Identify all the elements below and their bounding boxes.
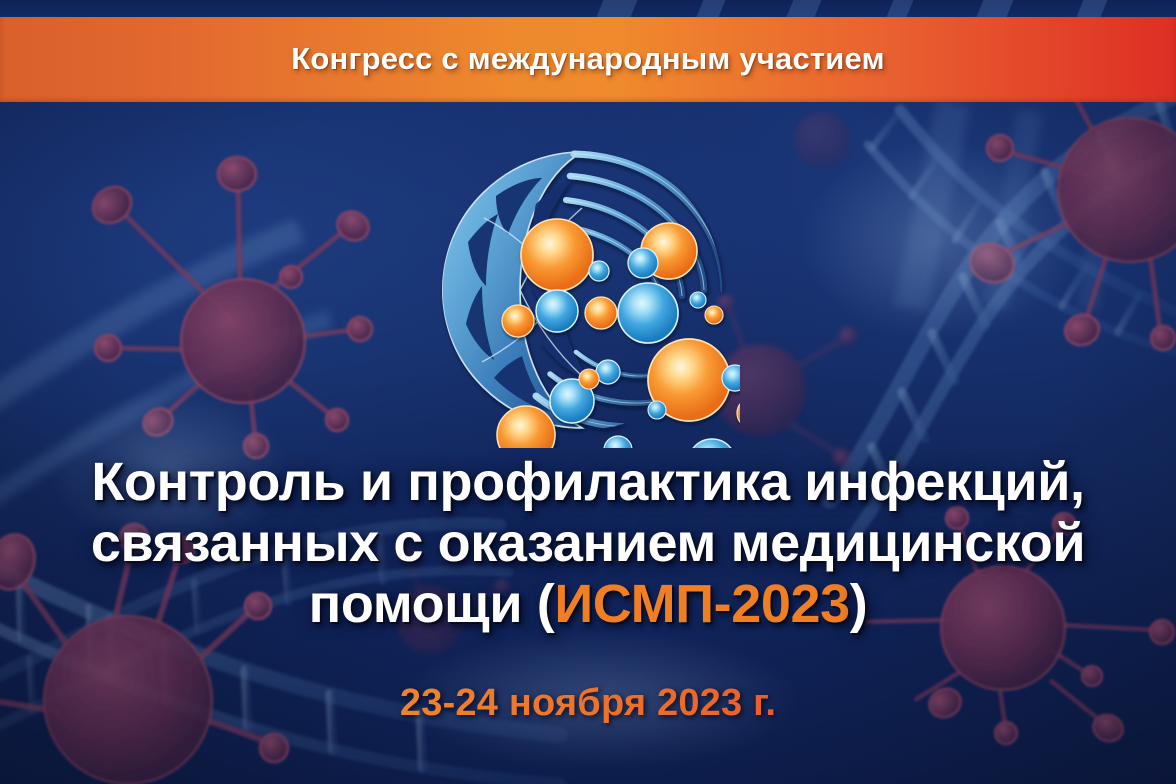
event-date: 23-24 ноября 2023 г.	[0, 682, 1176, 725]
sphere-blue-tiny-3	[596, 360, 620, 384]
header-banner: Конгресс с международным участием	[0, 16, 1176, 102]
poster-title: Контроль и профилактика инфекций, связан…	[0, 452, 1176, 635]
sphere-blue-medium-1	[536, 290, 578, 332]
title-acronym: ИСМП-2023	[554, 574, 849, 634]
sphere-blue-small-1	[589, 261, 609, 281]
sphere-blue-medium-3	[688, 439, 736, 448]
logo-spheres	[497, 219, 740, 448]
sphere-orange-large-1	[521, 219, 593, 291]
sphere-blue-tiny-1	[690, 292, 706, 308]
sphere-orange-small-3	[737, 398, 740, 428]
sphere-blue-tiny-2	[648, 401, 666, 419]
logo-arcs	[562, 154, 724, 304]
congress-logo-svg	[424, 138, 740, 448]
title-line-1: Контроль и профилактика инфекций,	[22, 452, 1154, 513]
congress-logo	[424, 138, 740, 448]
banner-title: Конгресс с международным участием	[0, 41, 1176, 77]
sphere-orange-tiny-1	[705, 306, 723, 324]
title-line-2: связанных с оказанием медицинской	[22, 513, 1154, 574]
congress-poster: Конгресс с международным участием	[0, 0, 1176, 784]
sphere-orange-small-1	[502, 305, 534, 337]
sphere-blue-small-2	[628, 248, 658, 278]
title-line-3: помощи (ИСМП-2023)	[22, 574, 1154, 635]
sphere-blue-large-1	[618, 283, 678, 343]
title-line-3-prefix: помощи (	[309, 574, 555, 634]
top-strip	[0, 0, 1176, 17]
sphere-orange-small-2	[585, 297, 617, 329]
sphere-orange-tiny-2	[579, 369, 599, 389]
title-line-3-suffix: )	[850, 574, 868, 634]
sphere-blue-small-4	[604, 436, 632, 448]
